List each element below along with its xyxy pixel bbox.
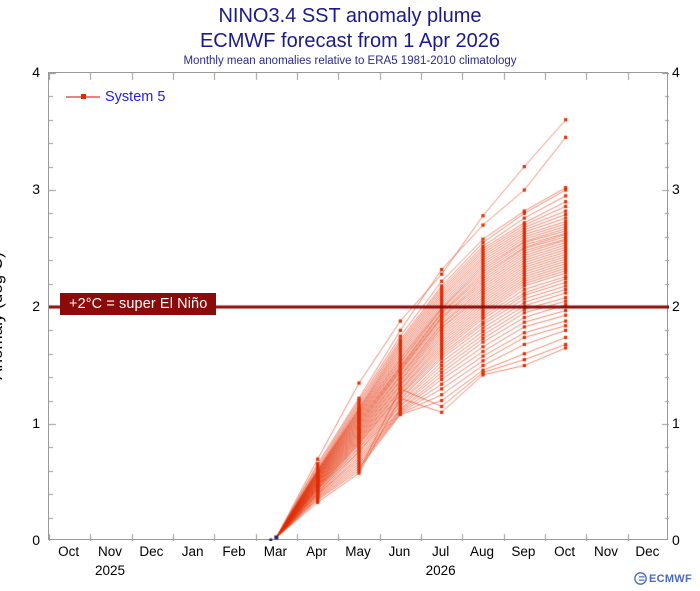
y-tick-label-left-2: 2 xyxy=(10,298,40,314)
ecmwf-logo-text: ECMWF xyxy=(649,573,692,585)
x-tick-label-11: Sep xyxy=(511,544,535,559)
page-subtitle-climatology: Monthly mean anomalies relative to ERA5 … xyxy=(0,54,700,69)
legend-item-label: System 5 xyxy=(105,89,165,105)
page-title: NINO3.4 SST anomaly plume xyxy=(0,4,700,29)
y-tick-label-right-3: 3 xyxy=(672,181,700,197)
chart-page: NINO3.4 SST anomaly plume ECMWF forecast… xyxy=(0,0,700,591)
x-tick-label-1: Nov xyxy=(98,544,122,559)
x-tick-label-4: Feb xyxy=(222,544,245,559)
y-tick-label-right-0: 0 xyxy=(672,532,700,548)
x-year-label-2026: 2026 xyxy=(426,563,456,578)
status-badge: +2°C = super El Niño xyxy=(60,293,216,315)
y-axis-title: Anomaly (deg C) xyxy=(0,151,7,481)
x-year-label-2025: 2025 xyxy=(95,563,125,578)
ecmwf-logo-icon xyxy=(634,572,647,585)
y-tick-label-left-1: 1 xyxy=(10,415,40,431)
x-tick-label-14: Dec xyxy=(635,544,659,559)
x-tick-label-5: Mar xyxy=(264,544,287,559)
x-tick-label-7: May xyxy=(345,544,371,559)
legend: System 5 xyxy=(66,89,165,105)
line-marker-icon xyxy=(66,92,100,102)
x-tick-label-13: Nov xyxy=(594,544,618,559)
x-tick-label-10: Aug xyxy=(470,544,494,559)
x-tick-label-6: Apr xyxy=(306,544,327,559)
x-tick-label-8: Jun xyxy=(388,544,410,559)
y-tick-label-left-4: 4 xyxy=(10,64,40,80)
y-tick-label-right-4: 4 xyxy=(672,64,700,80)
title-block: NINO3.4 SST anomaly plume ECMWF forecast… xyxy=(0,4,700,69)
x-tick-label-12: Oct xyxy=(554,544,575,559)
ecmwf-logo: ECMWF xyxy=(634,572,692,585)
y-tick-label-left-0: 0 xyxy=(10,532,40,548)
x-tick-label-3: Jan xyxy=(182,544,204,559)
y-tick-label-left-3: 3 xyxy=(10,181,40,197)
y-tick-label-right-2: 2 xyxy=(672,298,700,314)
page-subtitle-forecast: ECMWF forecast from 1 Apr 2026 xyxy=(0,29,700,54)
x-tick-label-9: Jul xyxy=(432,544,449,559)
x-tick-label-0: Oct xyxy=(58,544,79,559)
y-tick-label-right-1: 1 xyxy=(672,415,700,431)
x-tick-label-2: Dec xyxy=(139,544,163,559)
